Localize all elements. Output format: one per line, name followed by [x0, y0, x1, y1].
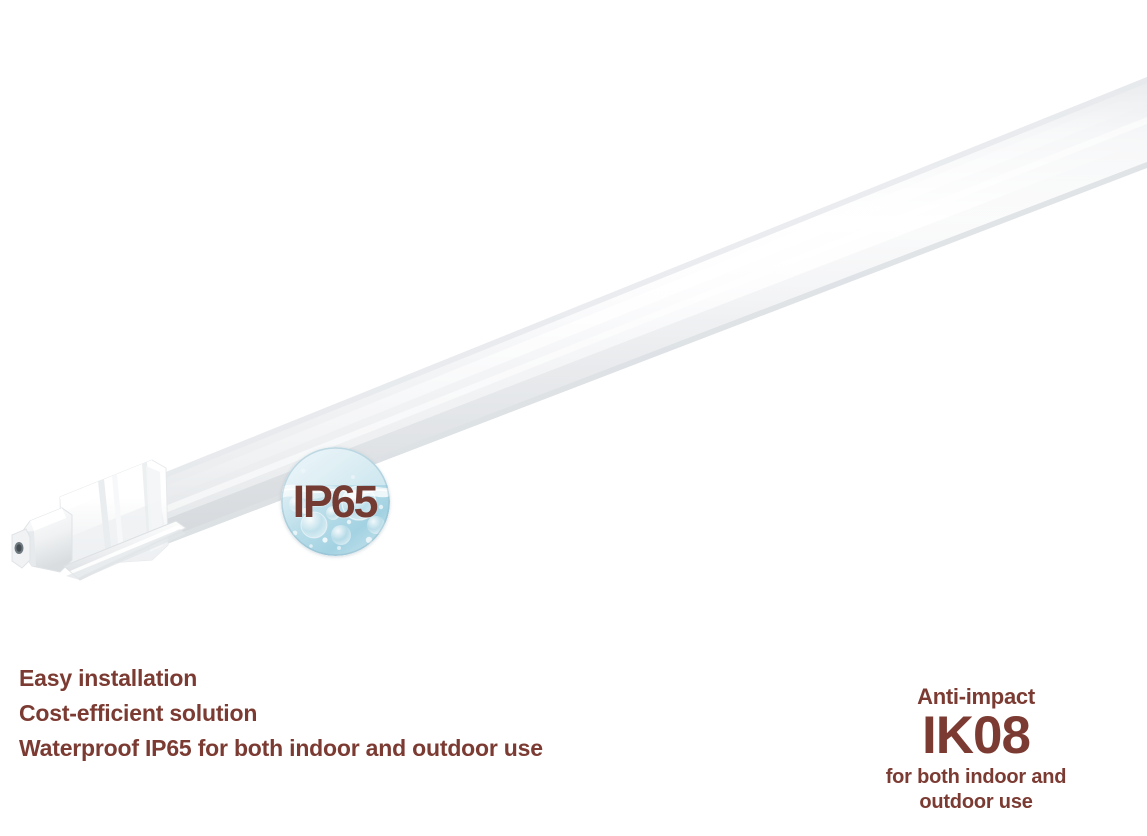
feature-line-1: Easy installation [19, 661, 719, 696]
feature-list: Easy installation Cost-efficient solutio… [19, 661, 719, 766]
anti-impact-subtitle-line-2: outdoor use [845, 790, 1107, 815]
cable-gland [12, 508, 72, 572]
feature-line-2: Cost-efficient solution [19, 696, 719, 731]
product-image-stage: IP65 [0, 0, 1147, 640]
anti-impact-block: Anti-impact IK08 for both indoor and out… [845, 684, 1107, 815]
ip65-label: IP65 [281, 447, 390, 556]
anti-impact-subtitle-line-1: for both indoor and [845, 765, 1107, 790]
ik08-rating: IK08 [845, 709, 1107, 763]
ip65-badge: IP65 [281, 447, 390, 556]
led-tube-illustration [0, 0, 1147, 640]
anti-impact-subtitle: for both indoor and outdoor use [845, 765, 1107, 815]
feature-line-3: Waterproof IP65 for both indoor and outd… [19, 731, 719, 766]
